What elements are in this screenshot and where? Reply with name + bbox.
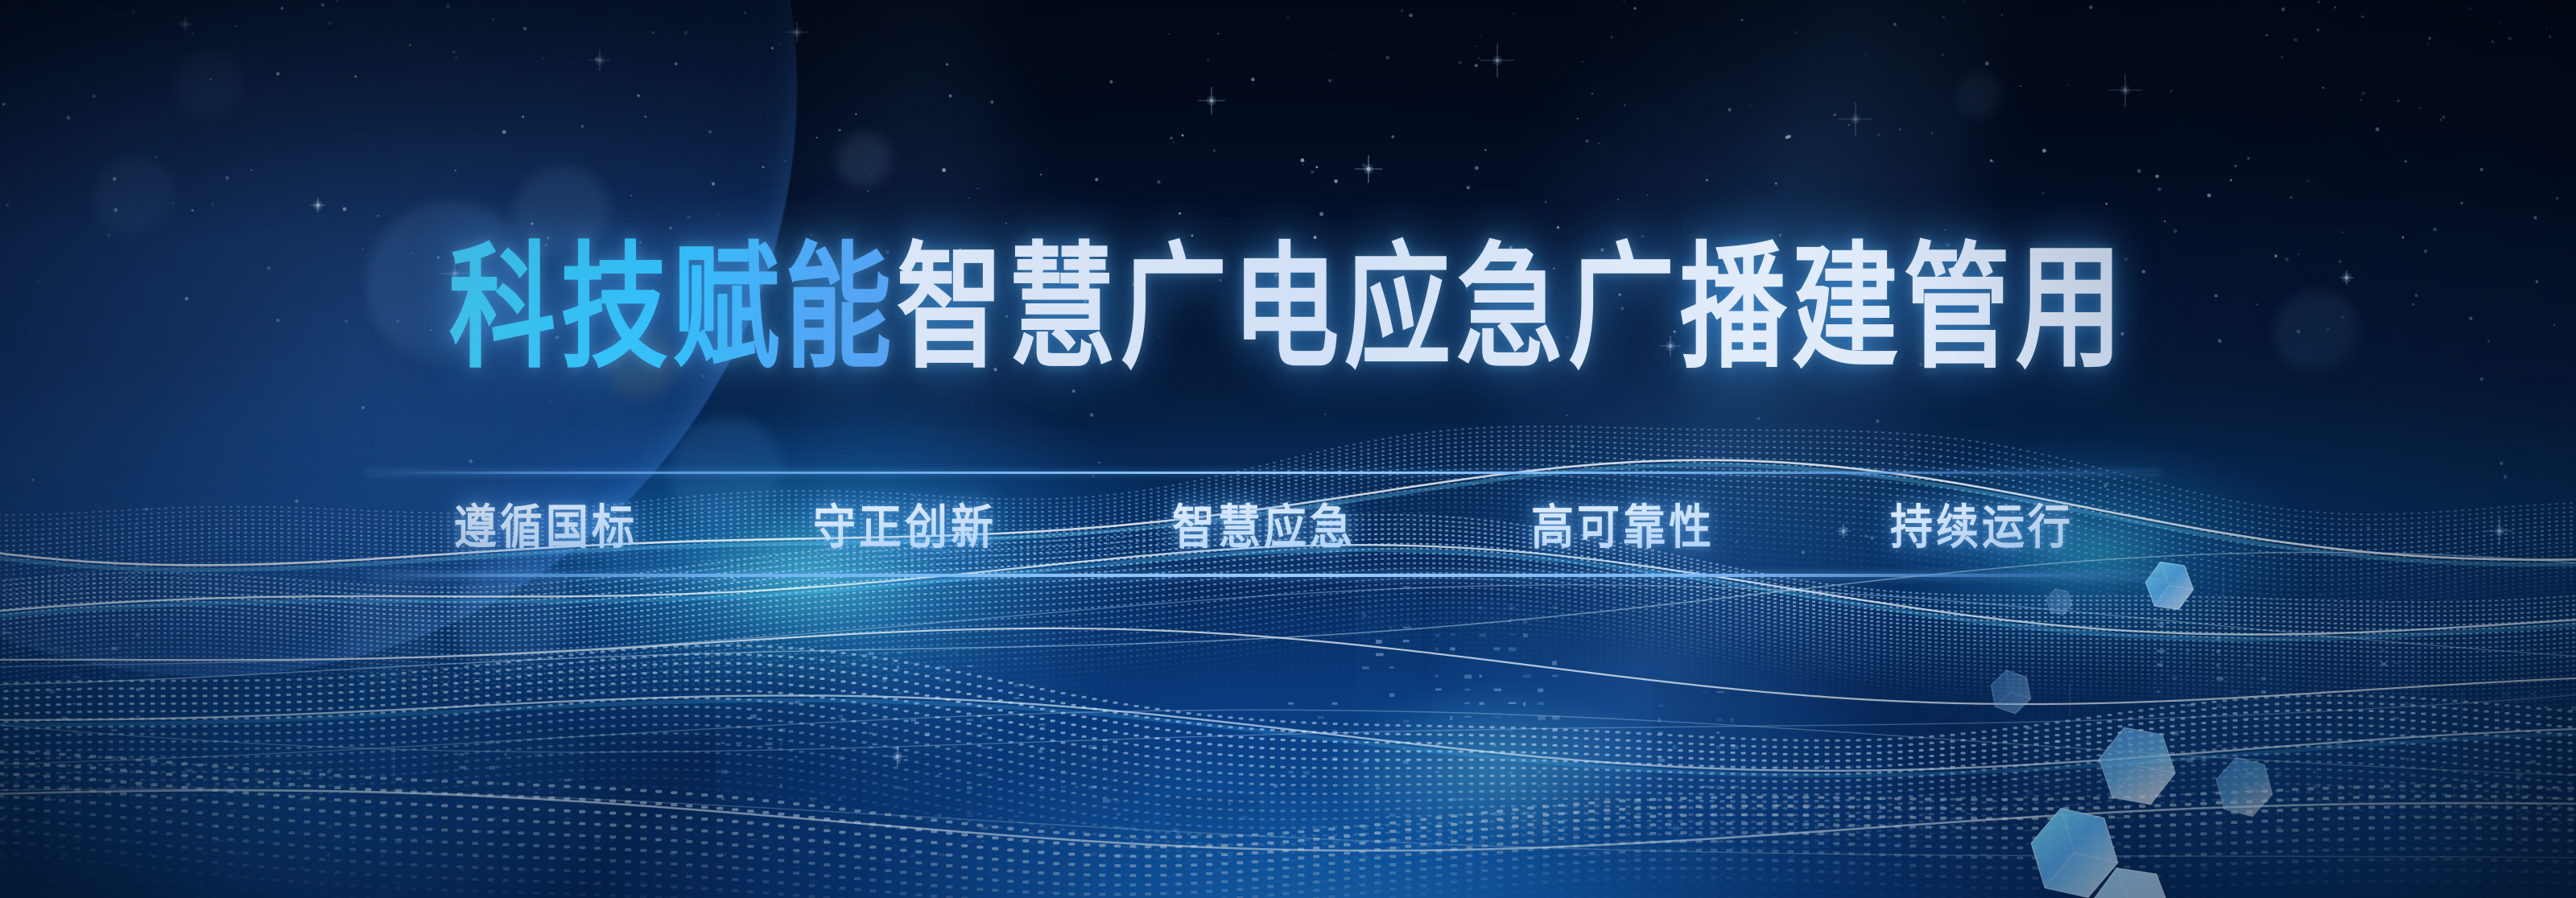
tech-banner: 科技赋能智慧广电应急广播建管用 遵循国标 守正创新 智慧应急 高可靠性 持续运行: [0, 0, 2576, 898]
vignette-overlay: [0, 0, 2576, 898]
